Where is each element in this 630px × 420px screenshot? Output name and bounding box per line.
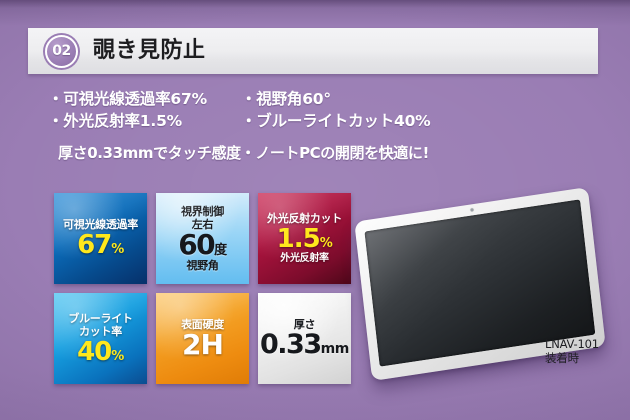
spec-item-reflection: ・外光反射率1.5% [48,110,241,132]
page-title: 覗き見防止 [93,40,206,62]
specification-list: ・可視光線透過率67% ・外光反射率1.5% ・視野角60° ・ブルーライトカッ… [48,88,468,163]
tile-value: 40 [77,338,111,366]
specification-column-right: ・視野角60° ・ブルーライトカット40% [241,88,466,132]
product-photo-area: LNAV-101 装着時 [354,188,626,404]
tile-label: 視界制御 [181,205,224,218]
tile-label-secondary: カット率 [79,325,122,338]
tile-label: ブルーライト [68,312,132,325]
spec-tagline: 厚さ0.33mmでタッチ感度・ノートPCの開閉を快適に! [58,142,468,163]
spec-item-view-angle: ・視野角60° [241,88,466,110]
section-number-label: 02 [52,44,70,58]
tile-value-row: 67 % [77,231,124,259]
tile-sublabel: 外光反射率 [280,253,329,265]
tile-value: 1.5 [277,225,320,253]
tile-value-row: 0.33 mm [260,331,349,359]
spec-item-blue-light: ・ブルーライトカット40% [241,110,466,132]
spec-item-visible-light: ・可視光線透過率67% [48,88,241,110]
tile-value: 0.33 [260,331,321,359]
tile-value-row: 60 度 [178,231,227,259]
tile-value-row: 1.5 % [277,225,333,253]
advertisement-panel: 02 覗き見防止 ・可視光線透過率67% ・外光反射率1.5% ・視野角60° … [0,0,630,420]
tile-external-light-reflection: 外光反射カット 1.5 % 外光反射率 [258,193,351,284]
front-camera-icon [470,208,473,211]
tile-visible-light-transmittance: 可視光線透過率 67 % [54,193,147,284]
tile-unit: % [111,242,124,257]
tile-value-row: 2H [182,331,223,359]
tile-unit: % [111,349,124,364]
tile-blue-light-cut: ブルーライト カット率 40 % [54,293,147,384]
tile-unit: 度 [214,239,227,258]
tile-unit: mm [321,341,349,357]
specification-column-left: ・可視光線透過率67% ・外光反射率1.5% [48,88,241,132]
specification-columns: ・可視光線透過率67% ・外光反射率1.5% ・視野角60° ・ブルーライトカッ… [48,88,468,132]
tile-value: 67 [77,231,111,259]
tile-view-angle: 視界制御 左右 60 度 視野角 [156,193,249,284]
tile-value: 2H [182,331,223,359]
product-model-label: LNAV-101 [545,337,599,351]
section-header-bar: 02 覗き見防止 [28,28,598,74]
tile-unit: % [320,236,333,251]
tile-thickness: 厚さ 0.33 mm [258,293,351,384]
feature-tile-grid: 可視光線透過率 67 % 視界制御 左右 60 度 視野角 外光反射カット 1.… [54,193,351,384]
tile-sublabel: 視野角 [186,259,218,272]
tile-surface-hardness: 表面硬度 2H [156,293,249,384]
product-caption: LNAV-101 装着時 [545,337,599,365]
tile-value: 60 [178,231,214,259]
tile-value-row: 40 % [77,338,124,366]
product-state-label: 装着時 [545,351,599,365]
section-number-badge: 02 [45,35,78,68]
